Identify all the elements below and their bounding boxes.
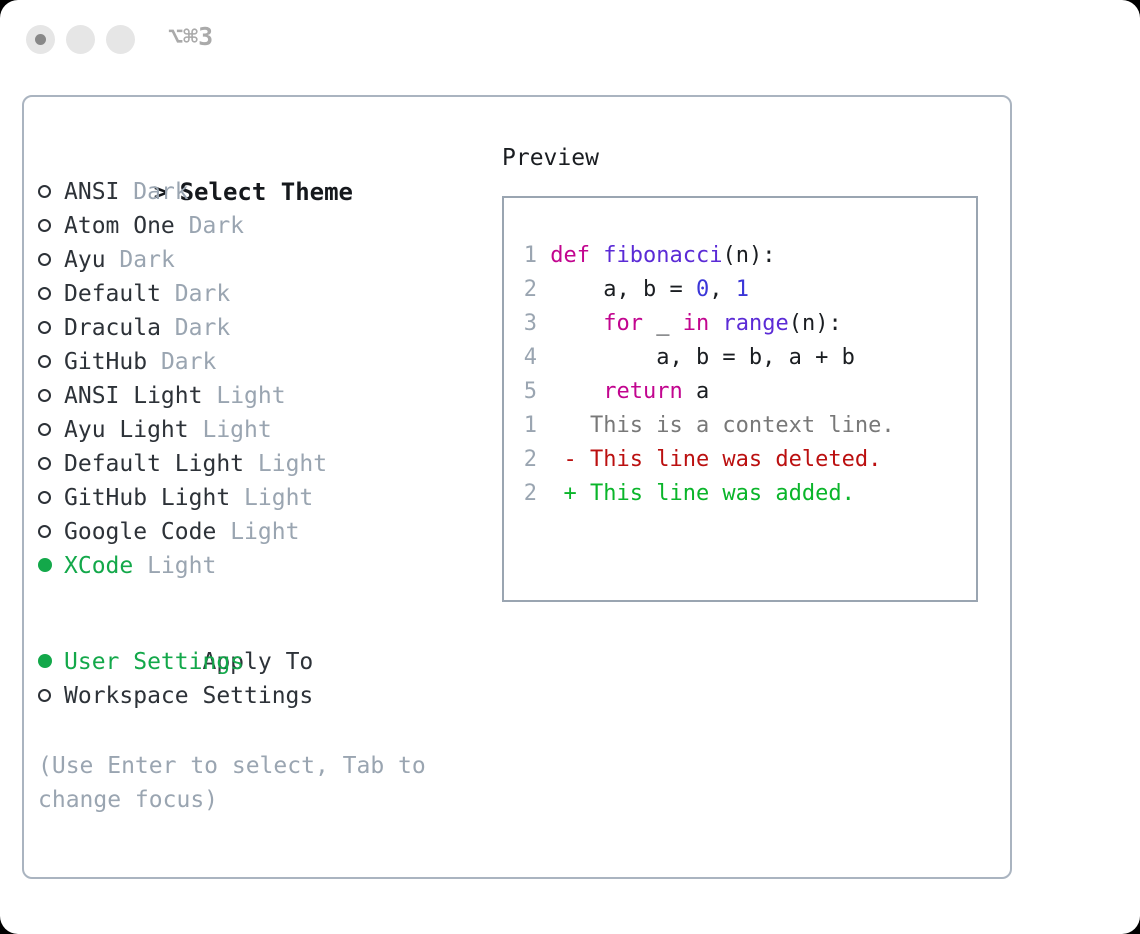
radio-unselected-icon [38, 689, 51, 702]
theme-variant-badge: Light [202, 417, 271, 443]
preview-panel-container: Preview 1 def fibonacci(n):2 a, b = 0, 1… [502, 141, 992, 602]
code-line: 5 return a [523, 375, 855, 409]
theme-name: GitHub Light [64, 485, 230, 511]
radio-unselected-icon [38, 457, 51, 470]
line-number: 1 [523, 409, 537, 443]
window-titlebar: ⌥⌘3 [0, 0, 1140, 78]
diff-line: 1 This is a context line. [523, 409, 895, 443]
apply-to-radio-marker [38, 645, 64, 679]
apply-to-radio-marker [38, 679, 64, 713]
gutter-gap [537, 311, 550, 336]
diff-line: 2 + This line was added. [523, 477, 895, 511]
radio-unselected-icon [38, 389, 51, 402]
theme-radio-marker [38, 175, 64, 209]
code-token: , [709, 277, 736, 302]
titlebar-dot-3[interactable] [106, 25, 135, 54]
gutter-gap [537, 277, 550, 302]
code-sample: 1 def fibonacci(n):2 a, b = 0, 13 for _ … [523, 239, 855, 409]
code-token: in [683, 311, 710, 336]
theme-name: Google Code [64, 519, 216, 545]
code-token: range [722, 311, 788, 336]
theme-panel-header: >Select Theme [38, 141, 478, 175]
titlebar-dot-2[interactable] [66, 25, 95, 54]
record-dot-icon [35, 34, 46, 45]
radio-selected-icon [38, 654, 52, 668]
theme-radio-marker [38, 345, 64, 379]
theme-radio-marker [38, 481, 64, 515]
theme-variant-badge: Dark [119, 247, 174, 273]
radio-unselected-icon [38, 321, 51, 334]
radio-unselected-icon [38, 491, 51, 504]
theme-list-item[interactable]: Dracula Dark [38, 311, 478, 345]
theme-variant-badge: Light [216, 383, 285, 409]
theme-radio-marker [38, 209, 64, 243]
preview-title: Preview [502, 141, 992, 175]
theme-list-item[interactable]: Default Light Light [38, 447, 478, 481]
diff-line-text: + This line was added. [537, 481, 855, 506]
theme-variant-badge: Dark [161, 349, 216, 375]
theme-list-item[interactable]: GitHub Light Light [38, 481, 478, 515]
theme-radio-marker [38, 379, 64, 413]
code-token [550, 379, 603, 404]
theme-name: XCode [64, 553, 133, 579]
spacer [230, 485, 244, 511]
apply-to-section: Apply To User SettingsWorkspace Settings [38, 611, 478, 713]
radio-unselected-icon [38, 287, 51, 300]
theme-radio-marker [38, 311, 64, 345]
preview-box: 1 def fibonacci(n):2 a, b = 0, 13 for _ … [502, 196, 978, 602]
code-line: 1 def fibonacci(n): [523, 239, 855, 273]
theme-radio-marker [38, 413, 64, 447]
keyboard-hint-text: (Use Enter to select, Tab to change focu… [38, 749, 438, 817]
spacer [189, 417, 203, 443]
theme-name: Ayu [64, 247, 106, 273]
radio-selected-icon [38, 558, 52, 572]
line-number: 1 [523, 239, 537, 273]
code-token [590, 243, 603, 268]
code-token: 1 [736, 277, 749, 302]
theme-list-item[interactable]: Google Code Light [38, 515, 478, 549]
theme-list-item[interactable]: ANSI Light Light [38, 379, 478, 413]
theme-radio-marker [38, 515, 64, 549]
theme-name: Atom One [64, 213, 175, 239]
apply-to-option-label: User Settings [64, 649, 244, 675]
spacer [161, 281, 175, 307]
code-line: 3 for _ in range(n): [523, 307, 855, 341]
code-line: 2 a, b = 0, 1 [523, 273, 855, 307]
spacer [202, 383, 216, 409]
code-token: a, b = [550, 277, 696, 302]
theme-variant-badge: Light [147, 553, 216, 579]
line-number: 3 [523, 307, 537, 341]
theme-variant-badge: Dark [175, 315, 230, 341]
apply-to-option[interactable]: Workspace Settings [38, 679, 478, 713]
theme-panel-title: Select Theme [180, 178, 353, 206]
theme-variant-badge: Dark [175, 281, 230, 307]
keyboard-shortcut-label: ⌥⌘3 [168, 22, 213, 51]
code-token: 0 [696, 277, 709, 302]
code-token [550, 311, 603, 336]
line-number: 4 [523, 341, 537, 375]
theme-name: ANSI [64, 179, 119, 205]
theme-name: ANSI Light [64, 383, 202, 409]
line-number: 2 [523, 273, 537, 307]
diff-line-text: - This line was deleted. [537, 447, 881, 472]
diff-line: 2 - This line was deleted. [523, 443, 895, 477]
code-token [709, 311, 722, 336]
radio-unselected-icon [38, 423, 51, 436]
theme-name: Dracula [64, 315, 161, 341]
code-token: def [550, 243, 590, 268]
diff-line-text: This is a context line. [537, 413, 895, 438]
theme-radio-marker [38, 447, 64, 481]
apply-to-option-label: Workspace Settings [64, 683, 313, 709]
theme-name: Default [64, 281, 161, 307]
dialog-frame: >Select Theme ANSI DarkAtom One DarkAyu … [22, 95, 1012, 879]
apply-to-header: Apply To [38, 611, 478, 645]
code-token: a, b = b, a + b [550, 345, 855, 370]
line-number: 2 [523, 443, 537, 477]
radio-unselected-icon [38, 525, 51, 538]
line-number: 2 [523, 477, 537, 511]
code-token: (n): [789, 311, 842, 336]
code-token: for [603, 311, 643, 336]
theme-list-item[interactable]: Default Dark [38, 277, 478, 311]
theme-name: GitHub [64, 349, 147, 375]
theme-radio-marker [38, 277, 64, 311]
spacer [161, 315, 175, 341]
theme-name: Default Light [64, 451, 244, 477]
spacer [175, 213, 189, 239]
gutter-gap [537, 345, 550, 370]
theme-radio-marker [38, 549, 64, 583]
code-token: a [683, 379, 710, 404]
radio-unselected-icon [38, 253, 51, 266]
spacer [133, 553, 147, 579]
radio-unselected-icon [38, 185, 51, 198]
diff-sample: 1 This is a context line.2 - This line w… [523, 409, 895, 511]
theme-variant-badge: Dark [189, 213, 244, 239]
code-token: _ [643, 311, 683, 336]
code-line: 4 a, b = b, a + b [523, 341, 855, 375]
code-token: return [603, 379, 682, 404]
radio-unselected-icon [38, 219, 51, 232]
theme-variant-badge: Light [258, 451, 327, 477]
theme-list-item[interactable]: GitHub Dark [38, 345, 478, 379]
code-token: fibonacci [603, 243, 722, 268]
radio-unselected-icon [38, 355, 51, 368]
theme-selection-panel: >Select Theme ANSI DarkAtom One DarkAyu … [38, 141, 478, 817]
spacer [147, 349, 161, 375]
code-token: (n): [722, 243, 775, 268]
gutter-gap [537, 379, 550, 404]
record-indicator-dot[interactable] [26, 25, 55, 54]
line-number: 5 [523, 375, 537, 409]
theme-name: Ayu Light [64, 417, 189, 443]
gutter-gap [537, 243, 550, 268]
spacer [119, 179, 133, 205]
spacer [244, 451, 258, 477]
theme-list: ANSI DarkAtom One DarkAyu DarkDefault Da… [38, 175, 478, 583]
theme-list-item[interactable]: Ayu Dark [38, 243, 478, 277]
theme-list-item[interactable]: XCode Light [38, 549, 478, 583]
theme-radio-marker [38, 243, 64, 277]
spacer [106, 247, 120, 273]
app-window: ⌥⌘3 >Select Theme ANSI DarkAtom One Dark… [0, 0, 1140, 934]
theme-list-item[interactable]: Ayu Light Light [38, 413, 478, 447]
spacer [216, 519, 230, 545]
theme-variant-badge: Light [244, 485, 313, 511]
theme-list-item[interactable]: Atom One Dark [38, 209, 478, 243]
theme-variant-badge: Light [230, 519, 299, 545]
theme-variant-badge: Dark [133, 179, 188, 205]
